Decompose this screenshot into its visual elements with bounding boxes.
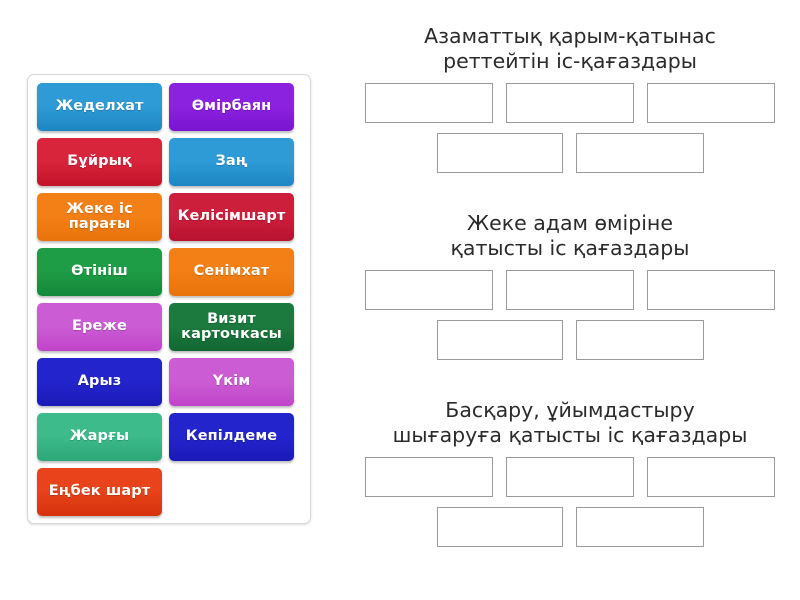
tile-grid: Жеделхат Өмірбаян Бұйрық Заң Жеке іс пар…: [28, 83, 310, 523]
dropzone-row-top: [348, 457, 792, 497]
category-title: Басқару, ұйымдастыру шығаруға қатысты іс…: [348, 398, 792, 447]
tile-label: Үкім: [213, 374, 251, 389]
tile-label: Келісімшарт: [178, 209, 286, 224]
dropzone[interactable]: [576, 133, 704, 173]
tile-label: Жеке іс парағы: [41, 202, 158, 233]
draggable-tile[interactable]: Еңбек шарт: [37, 468, 162, 516]
dropzone[interactable]: [365, 83, 493, 123]
dropzone-row-top: [348, 270, 792, 310]
dropzone-rows: [348, 270, 792, 360]
tile-label: Бұйрық: [67, 154, 132, 169]
draggable-tile[interactable]: Арыз: [37, 358, 162, 406]
tile-label: Өтініш: [71, 264, 128, 279]
category-title: Жеке адам өміріне қатысты іс қағаздары: [348, 211, 792, 260]
dropzone[interactable]: [576, 507, 704, 547]
draggable-tile[interactable]: Бұйрық: [37, 138, 162, 186]
dropzone-rows: [348, 83, 792, 173]
tile-label: Кепілдеме: [186, 429, 277, 444]
tile-label: Ереже: [72, 319, 127, 334]
draggable-tile[interactable]: Жеке іс парағы: [37, 193, 162, 241]
tile-label: Сенімхат: [194, 264, 270, 279]
draggable-tile[interactable]: Сенімхат: [169, 248, 294, 296]
tile-label: Еңбек шарт: [49, 484, 150, 499]
tile-label: Жеделхат: [55, 99, 143, 114]
dropzone-row-bottom: [348, 133, 792, 173]
tile-label: Заң: [215, 154, 247, 169]
dropzone[interactable]: [365, 457, 493, 497]
category-group-3: Басқару, ұйымдастыру шығаруға қатысты іс…: [348, 398, 792, 547]
dropzone-rows: [348, 457, 792, 547]
dropzone[interactable]: [647, 270, 775, 310]
draggable-tile[interactable]: Ереже: [37, 303, 162, 351]
category-group-2: Жеке адам өміріне қатысты іс қағаздары: [348, 211, 792, 360]
category-title: Азаматтық қарым-қатынас реттейтін іс-қағ…: [348, 24, 792, 73]
category-group-1: Азаматтық қарым-қатынас реттейтін іс-қағ…: [348, 24, 792, 173]
dropzone[interactable]: [437, 133, 563, 173]
dropzone[interactable]: [506, 457, 634, 497]
tile-label: Арыз: [78, 374, 122, 389]
dropzone-row-top: [348, 83, 792, 123]
draggable-tile[interactable]: Үкім: [169, 358, 294, 406]
tile-label: Визит карточкасы: [173, 312, 290, 343]
draggable-tile[interactable]: Кепілдеме: [169, 413, 294, 461]
dropzone[interactable]: [576, 320, 704, 360]
draggable-tile[interactable]: Жеделхат: [37, 83, 162, 131]
dropzone-row-bottom: [348, 507, 792, 547]
draggable-tile[interactable]: Заң: [169, 138, 294, 186]
dropzone[interactable]: [506, 270, 634, 310]
dropzone[interactable]: [647, 83, 775, 123]
dropzone[interactable]: [437, 320, 563, 360]
draggable-tile[interactable]: Өтініш: [37, 248, 162, 296]
dropzone[interactable]: [365, 270, 493, 310]
tile-pool: Жеделхат Өмірбаян Бұйрық Заң Жеке іс пар…: [27, 74, 311, 524]
activity-root: Жеделхат Өмірбаян Бұйрық Заң Жеке іс пар…: [0, 0, 800, 600]
draggable-tile[interactable]: Жарғы: [37, 413, 162, 461]
dropzone-row-bottom: [348, 320, 792, 360]
draggable-tile[interactable]: Визит карточкасы: [169, 303, 294, 351]
dropzone[interactable]: [647, 457, 775, 497]
draggable-tile[interactable]: Келісімшарт: [169, 193, 294, 241]
tile-label: Өмірбаян: [192, 99, 272, 114]
dropzone[interactable]: [506, 83, 634, 123]
draggable-tile[interactable]: Өмірбаян: [169, 83, 294, 131]
tile-label: Жарғы: [70, 429, 129, 444]
dropzone[interactable]: [437, 507, 563, 547]
